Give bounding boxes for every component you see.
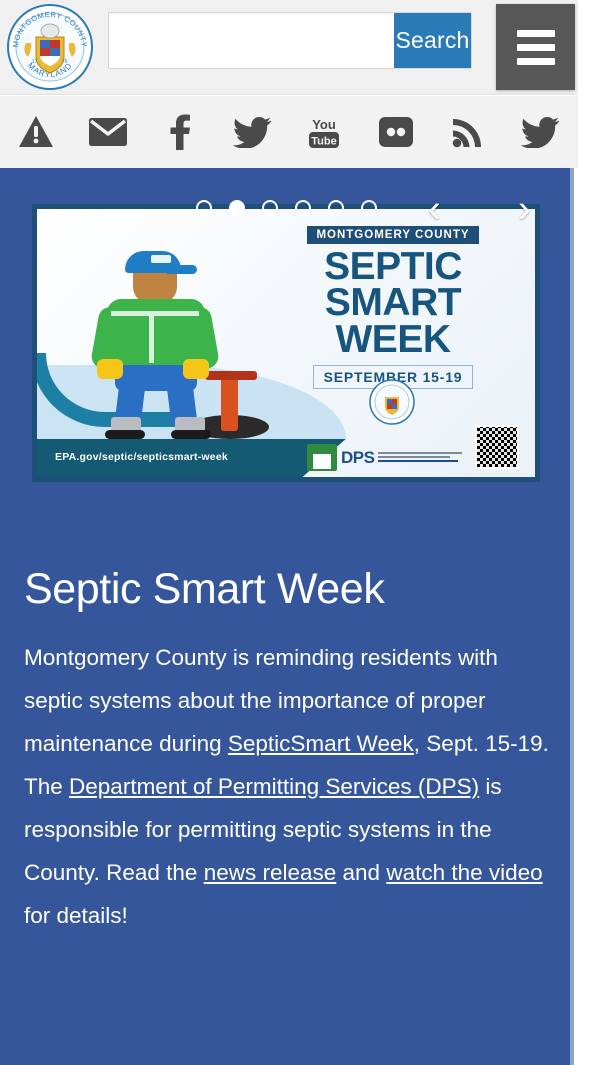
link-watch-video[interactable]: watch the video — [386, 860, 542, 885]
svg-text:76: 76 — [62, 59, 68, 65]
site-header: MONTGOMERY COUNTY MARYLAND 17 76 Se — [0, 0, 578, 95]
worker-hivis-stripe — [111, 311, 199, 316]
svg-text:You: You — [312, 117, 336, 132]
hamburger-menu-button[interactable] — [496, 4, 575, 90]
carousel-dots — [196, 200, 377, 216]
worker-torso — [107, 299, 205, 365]
dps-wordmark: DPS — [341, 448, 374, 468]
banner-url: EPA.gov/septic/septicsmart-week — [55, 451, 228, 463]
banner-title-line1: SEPTIC SMART — [324, 245, 462, 324]
link-septicsmart-week[interactable]: SepticSmart Week — [228, 731, 414, 756]
link-news-release[interactable]: news release — [204, 860, 337, 885]
dps-house-icon — [307, 444, 337, 471]
twitter-alt-icon[interactable] — [504, 117, 576, 148]
svg-text:Tube: Tube — [311, 136, 336, 148]
email-icon[interactable] — [72, 118, 144, 146]
banner-footer: EPA.gov/septic/septicsmart-week DPS — [37, 439, 535, 477]
article-body: Montgomery County is reminding residents… — [24, 636, 552, 937]
svg-text:17: 17 — [32, 59, 38, 65]
article-text-5: for details! — [24, 903, 128, 928]
carousel-dot-5[interactable] — [328, 200, 344, 216]
carousel-dot-4[interactable] — [295, 200, 311, 216]
link-dps[interactable]: Department of Permitting Services (DPS) — [69, 774, 479, 799]
worker-glove-left — [97, 359, 123, 379]
banner-county-seal — [369, 379, 415, 425]
carousel-dot-2[interactable] — [229, 200, 245, 216]
worker-glove-right — [183, 359, 209, 379]
search-button[interactable]: Search — [394, 13, 471, 68]
article: Septic Smart Week Montgomery County is r… — [24, 565, 552, 937]
alert-icon[interactable] — [0, 115, 72, 149]
page-root: MONTGOMERY COUNTY MARYLAND 17 76 Se — [0, 0, 600, 1065]
worker-hivis-stripe — [149, 311, 154, 363]
page-title: Septic Smart Week — [24, 565, 552, 614]
dps-logo: DPS — [307, 444, 464, 471]
septic-worker-illustration — [71, 249, 241, 439]
carousel: MONTGOMERY COUNTY SEPTIC SMART WEEK SEPT… — [32, 204, 540, 482]
worker-shoe-right — [171, 430, 211, 439]
banner-county-label: MONTGOMERY COUNTY — [307, 226, 478, 244]
search-box: Search — [108, 12, 472, 69]
worker-head — [133, 269, 177, 303]
menu-bar-icon — [517, 58, 555, 65]
carousel-dot-1[interactable] — [196, 200, 212, 216]
menu-bar-icon — [517, 30, 555, 37]
qr-code — [475, 425, 519, 469]
worker-shoe-left — [105, 430, 145, 439]
county-seal-logo[interactable]: MONTGOMERY COUNTY MARYLAND 17 76 — [6, 3, 94, 91]
article-text-4: and — [336, 860, 386, 885]
pipe-shape — [221, 377, 238, 431]
menu-bar-icon — [517, 44, 555, 51]
worker-cap-brim — [167, 265, 197, 274]
carousel-dot-3[interactable] — [262, 200, 278, 216]
youtube-icon[interactable]: You Tube — [288, 114, 360, 150]
pipe-flange-shape — [205, 371, 257, 380]
worker-cap-patch — [151, 255, 171, 263]
search-input[interactable] — [109, 13, 394, 68]
carousel-prev-arrow-icon[interactable]: ‹ — [428, 190, 441, 228]
facebook-icon[interactable] — [144, 114, 216, 150]
carousel-next-arrow-icon[interactable]: › — [518, 190, 531, 228]
banner-title: SEPTIC SMART WEEK — [255, 249, 531, 358]
flickr-icon[interactable] — [360, 117, 432, 147]
banner-text-block: MONTGOMERY COUNTY SEPTIC SMART WEEK SEPT… — [255, 225, 531, 389]
social-links-bar: You Tube — [0, 96, 578, 168]
dps-subtext — [378, 452, 464, 464]
twitter-icon[interactable] — [216, 117, 288, 148]
carousel-dot-6[interactable] — [361, 200, 377, 216]
banner-title-line2: WEEK — [255, 322, 531, 358]
carousel-slide-banner[interactable]: MONTGOMERY COUNTY SEPTIC SMART WEEK SEPT… — [37, 209, 535, 477]
rss-icon[interactable] — [432, 116, 504, 148]
